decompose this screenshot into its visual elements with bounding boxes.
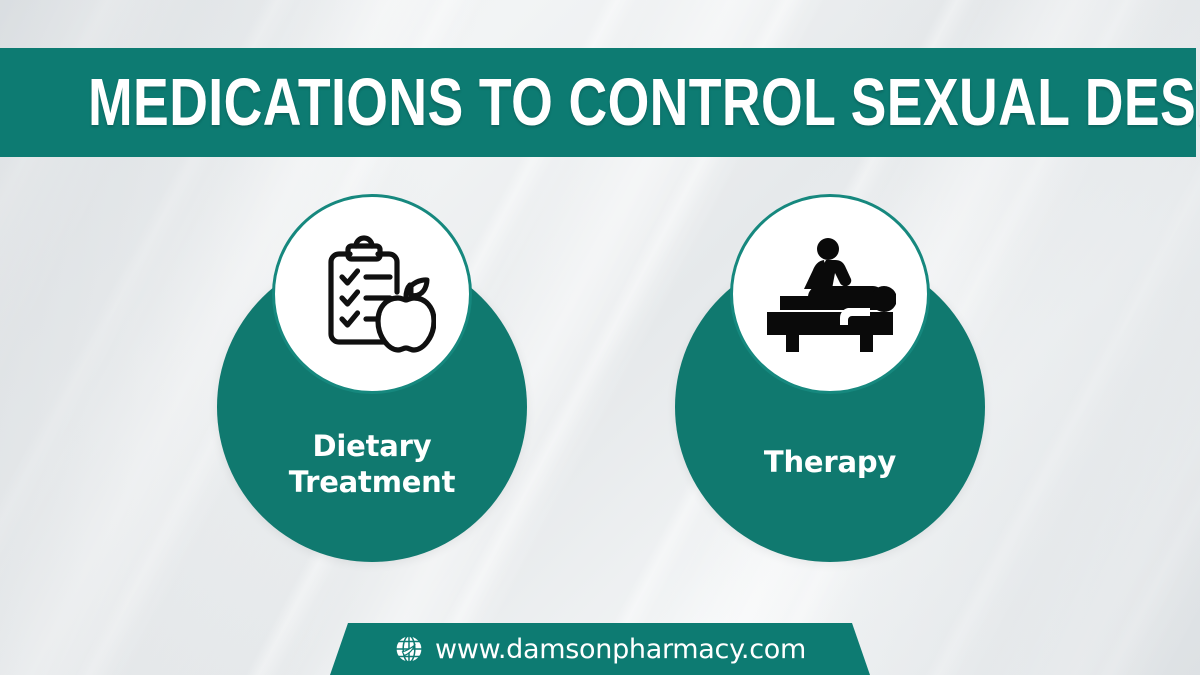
massage-therapy-table-icon: [764, 236, 896, 352]
feature-card-dietary-treatment[interactable]: Dietary Treatment: [207, 177, 537, 577]
globe-icon: [394, 634, 424, 664]
infographic-canvas: MEDICATIONS TO CONTROL SEXUAL DESIRE: [0, 0, 1200, 675]
feature-icon-badge: [730, 194, 930, 394]
feature-card-therapy[interactable]: Therapy: [665, 177, 995, 577]
footer-url-text: www.damsonpharmacy.com: [435, 636, 806, 663]
page-title: MEDICATIONS TO CONTROL SEXUAL DESIRE: [88, 69, 1200, 136]
feature-group: Dietary Treatment: [0, 157, 1200, 597]
feature-label-line1: Dietary: [207, 429, 537, 465]
feature-label: Dietary Treatment: [207, 429, 537, 501]
footer-website-banner[interactable]: www.damsonpharmacy.com: [330, 623, 870, 675]
feature-label-line2: Treatment: [207, 465, 537, 501]
title-banner: MEDICATIONS TO CONTROL SEXUAL DESIRE: [0, 48, 1196, 157]
feature-label: Therapy: [665, 445, 995, 481]
clipboard-checklist-apple-icon: [308, 230, 436, 358]
feature-icon-badge: [272, 194, 472, 394]
feature-label-line1: Therapy: [665, 445, 995, 481]
